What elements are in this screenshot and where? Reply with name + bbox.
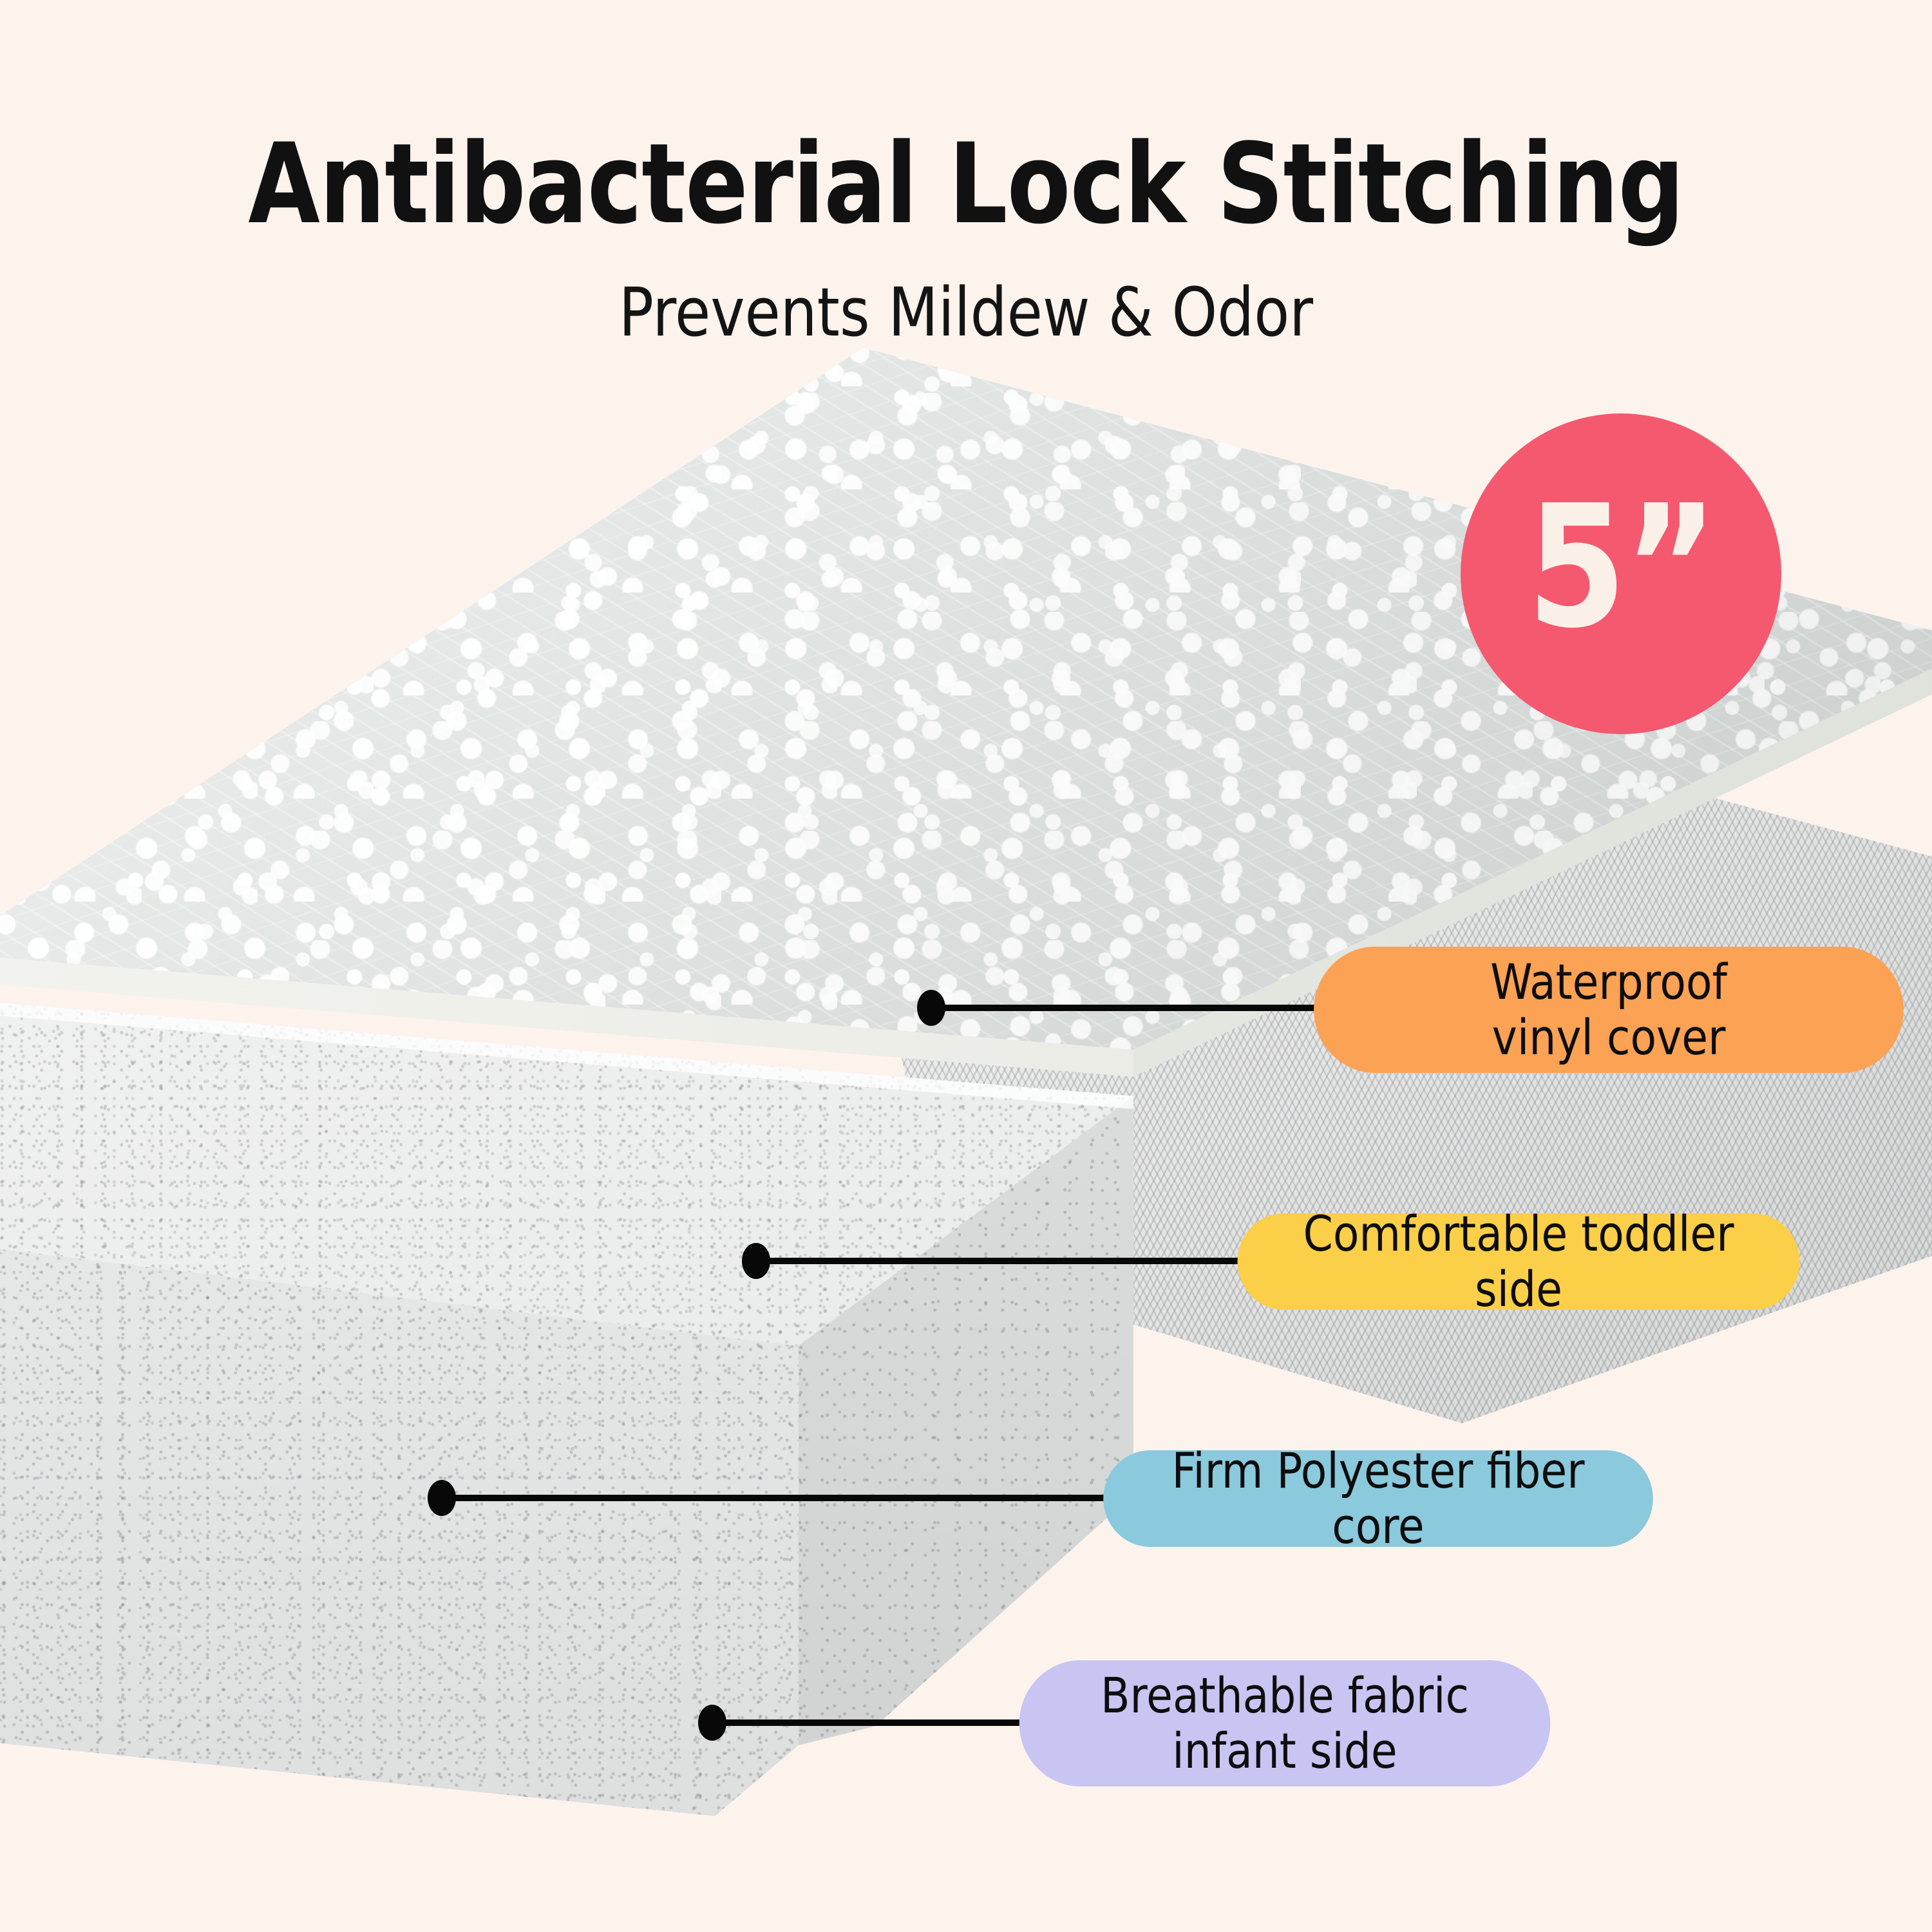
callout-line-1: Breathable fabric (1101, 1668, 1469, 1723)
callout-waterproof-vinyl-cover[interactable]: Waterproof vinyl cover (1314, 947, 1904, 1073)
page-title: Antibacterial Lock Stitching (68, 126, 1864, 243)
callout-line-1: Comfortable toddler side (1260, 1206, 1777, 1317)
infographic-canvas: Antibacterial Lock Stitching Prevents Mi… (0, 0, 1932, 1932)
page-subtitle: Prevents Mildew & Odor (39, 273, 1893, 352)
leader-line-comfortable-toddler-side (759, 1258, 1242, 1264)
callout-line-2: infant side (1101, 1723, 1469, 1779)
leader-line-waterproof-vinyl-cover (934, 1005, 1320, 1011)
leader-line-breathable-fabric-infant-side (715, 1719, 1024, 1726)
leader-line-firm-polyester-fiber-core (444, 1495, 1108, 1501)
callout-firm-polyester-fiber-core[interactable]: Firm Polyester fiber core (1103, 1450, 1653, 1547)
callout-breathable-fabric-infant-side[interactable]: Breathable fabric infant side (1019, 1660, 1551, 1786)
callout-line-2: vinyl cover (1490, 1010, 1727, 1065)
callout-line-1: Firm Polyester fiber core (1126, 1443, 1631, 1554)
callout-comfortable-toddler-side[interactable]: Comfortable toddler side (1238, 1213, 1800, 1310)
thickness-badge-label: 5” (1527, 483, 1715, 652)
callout-line-1: Waterproof (1490, 954, 1727, 1010)
thickness-badge: 5” (1461, 413, 1781, 734)
